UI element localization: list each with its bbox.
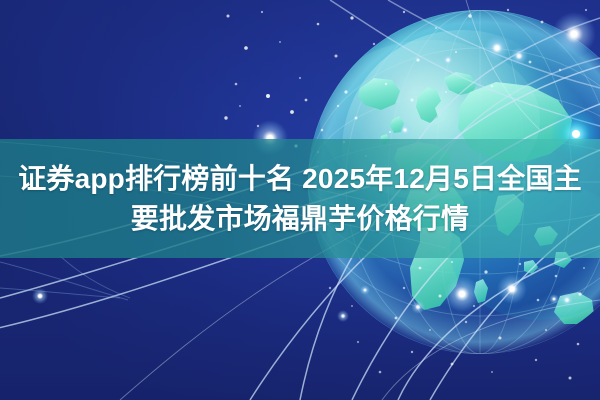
title-line-2: 要批发市场福鼎芋价格行情 — [131, 201, 469, 237]
banner-image: 证券app排行榜前十名 2025年12月5日全国主 要批发市场福鼎芋价格行情 — [0, 0, 600, 400]
title-block: 证券app排行榜前十名 2025年12月5日全国主 要批发市场福鼎芋价格行情 — [0, 139, 600, 258]
title-line-1: 证券app排行榜前十名 2025年12月5日全国主 — [18, 161, 582, 197]
